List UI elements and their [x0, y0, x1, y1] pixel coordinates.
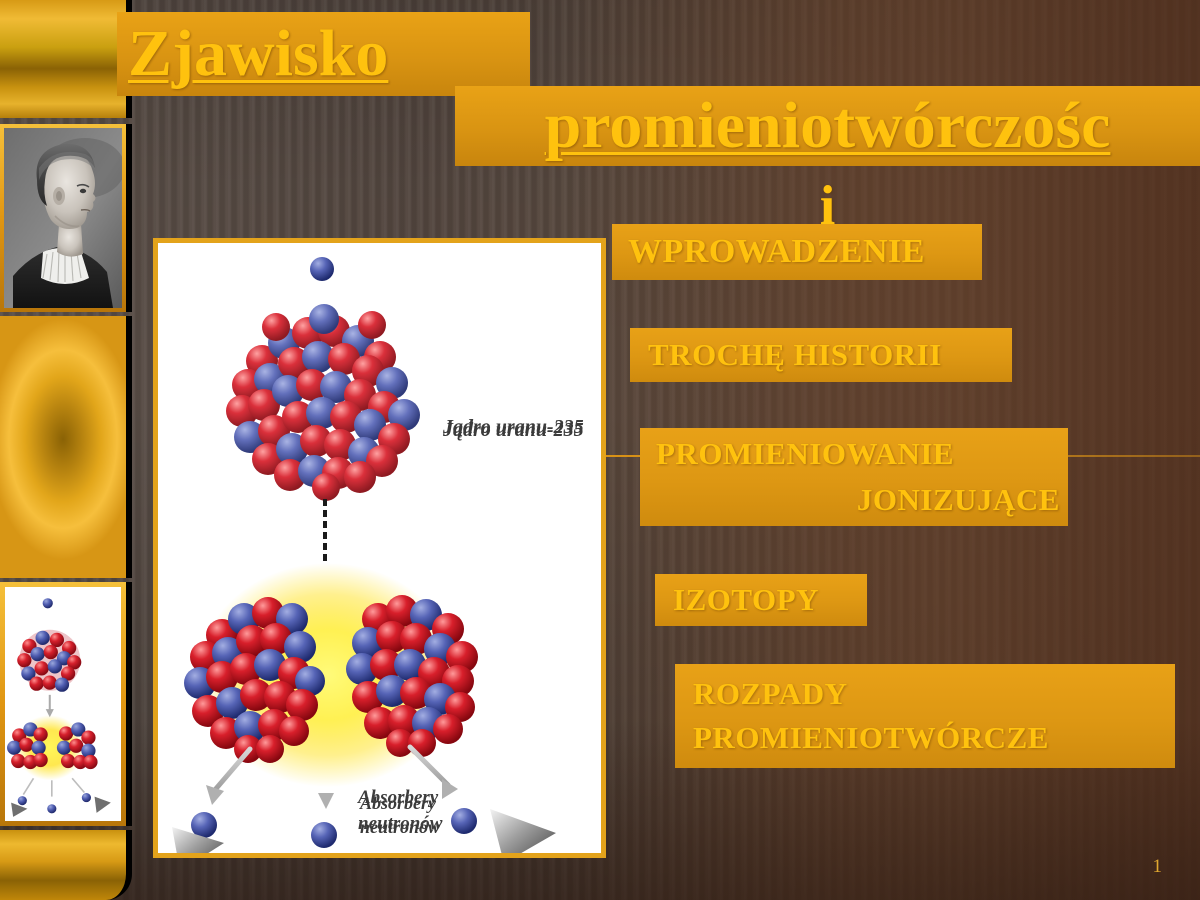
page-number: 1	[1153, 856, 1163, 878]
figure-caption-absorbers-line2: neutronów	[360, 815, 440, 839]
sidebar	[0, 0, 132, 900]
marie-curie-portrait-image	[4, 128, 122, 308]
presentation-slide: Zjawisko promieniotwórczośc i	[0, 0, 1200, 900]
sidebar-item-gold-footer	[0, 830, 132, 900]
menu-item-izotopy-label: IZOTOPY	[673, 582, 867, 618]
menu-item-promieniowanie-line2: JONIZUJĄCE	[656, 477, 1068, 523]
menu-item-troche-historii-label: TROCHĘ HISTORII	[648, 337, 1012, 373]
figure-panel[interactable]: Jądro uranu-235	[153, 238, 606, 858]
page-title-line2: promieniotwórczośc	[455, 88, 1200, 164]
fission-thumb-svg	[5, 587, 121, 821]
sidebar-item-fission-thumb[interactable]	[0, 582, 132, 826]
sidebar-item-portrait[interactable]	[0, 124, 132, 312]
page-title-line2-text: promieniotwórczośc	[545, 89, 1111, 162]
menu-item-izotopy[interactable]: IZOTOPY	[655, 574, 867, 626]
menu-item-wprowadzenie[interactable]: WPROWADZENIE	[612, 224, 982, 280]
fission-diagram-svg: Jądro uranu-235	[158, 243, 601, 853]
portrait-svg	[4, 128, 122, 308]
menu-item-promieniowanie-jonizujace[interactable]: PROMIENIOWANIE JONIZUJĄCE	[640, 428, 1068, 526]
figure-caption-absorbers: Absorbery neutronów	[360, 791, 440, 839]
page-title-line1: Zjawisko	[128, 16, 388, 92]
figure-caption-absorbers-line1: Absorbery	[360, 791, 440, 815]
sidebar-item-gold-band	[0, 0, 132, 118]
menu-item-promieniowanie-line1: PROMIENIOWANIE	[656, 431, 1068, 477]
menu-item-rozpady-line2: PROMIENIOTWÓRCZE	[693, 716, 1175, 760]
menu-item-wprowadzenie-label: WPROWADZENIE	[628, 233, 982, 271]
menu-item-troche-historii[interactable]: TROCHĘ HISTORII	[630, 328, 1012, 382]
menu-item-rozpady-promieniotworcze[interactable]: ROZPADY PROMIENIOTWÓRCZE	[675, 664, 1175, 768]
sidebar-item-radial-panel	[0, 316, 132, 578]
fission-thumbnail-image	[5, 587, 121, 821]
figure-caption-nucleus: Jądro uranu-235	[443, 419, 584, 442]
menu-item-rozpady-line1: ROZPADY	[693, 672, 1175, 716]
